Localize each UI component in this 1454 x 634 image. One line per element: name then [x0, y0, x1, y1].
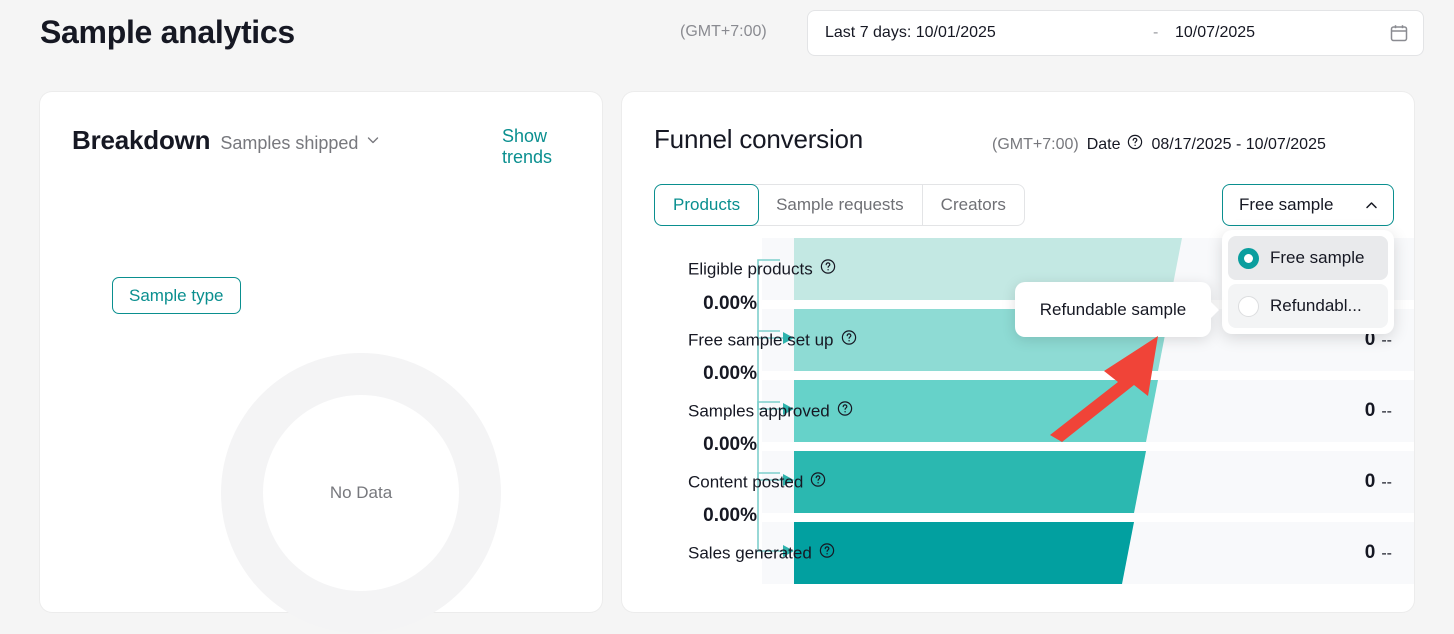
- header-timezone-label: (GMT+7:00): [680, 23, 767, 41]
- funnel-step-text: Content posted: [688, 472, 803, 492]
- sample-type-select[interactable]: Free sample: [1222, 184, 1394, 226]
- funnel-value-delta: --: [1381, 545, 1392, 563]
- tab-creators[interactable]: Creators: [923, 185, 1024, 225]
- sample-type-filter-button[interactable]: Sample type: [112, 277, 241, 314]
- funnel-bar-content-posted: [794, 451, 1146, 513]
- breakdown-header: Breakdown Samples shipped: [72, 125, 380, 156]
- funnel-value-delta: --: [1381, 474, 1392, 492]
- tab-products[interactable]: Products: [654, 184, 759, 226]
- chevron-up-icon: [1364, 198, 1379, 213]
- funnel-step-label: Samples approved: [688, 401, 853, 422]
- donut-center: No Data: [263, 395, 459, 591]
- dropdown-option-label: Free sample: [1270, 248, 1364, 268]
- funnel-meta: (GMT+7:00) Date 08/17/2025 - 10/07/2025: [992, 134, 1326, 155]
- funnel-step-label: Sales generated: [688, 543, 835, 564]
- date-range-end: 10/07/2025: [1175, 24, 1255, 42]
- breakdown-card: Breakdown Samples shipped Show trends Sa…: [40, 92, 602, 612]
- question-circle-icon[interactable]: [819, 543, 835, 564]
- funnel-bar-sales-generated: [794, 522, 1134, 584]
- dropdown-option-refundable-sample[interactable]: Refundabl...: [1228, 284, 1388, 328]
- funnel-value-number: 0: [1365, 542, 1376, 564]
- page-header: Sample analytics (GMT+7:00) Last 7 days:…: [0, 0, 1454, 68]
- date-range-separator: -: [1153, 24, 1158, 42]
- conversion-rate-1: 0.00%: [662, 293, 757, 315]
- breakdown-title: Breakdown: [72, 125, 210, 156]
- annotation-arrow-icon: [1040, 330, 1165, 450]
- funnel-value-number: 0: [1365, 471, 1376, 493]
- funnel-date-range: 08/17/2025 - 10/07/2025: [1151, 136, 1325, 154]
- funnel-step-value: 0 --: [1365, 471, 1392, 493]
- question-circle-icon[interactable]: [820, 259, 836, 280]
- question-circle-icon[interactable]: [841, 330, 857, 351]
- funnel-step-label: Eligible products: [688, 259, 836, 280]
- funnel-tabs: Products Sample requests Creators: [654, 184, 1025, 226]
- dropdown-option-free-sample[interactable]: Free sample: [1228, 236, 1388, 280]
- radio-selected-icon: [1238, 248, 1259, 269]
- tab-sample-requests[interactable]: Sample requests: [758, 185, 923, 225]
- breakdown-metric-label[interactable]: Samples shipped: [220, 133, 358, 154]
- funnel-date-label: Date: [1087, 136, 1121, 154]
- funnel-step-text: Sales generated: [688, 543, 812, 563]
- question-circle-icon[interactable]: [810, 472, 826, 493]
- chevron-down-icon[interactable]: [366, 133, 380, 147]
- refundable-sample-tooltip: Refundable sample: [1015, 282, 1211, 337]
- conversion-rate-3: 0.00%: [662, 434, 757, 456]
- funnel-step-text: Samples approved: [688, 401, 830, 421]
- funnel-conversion-card: Funnel conversion (GMT+7:00) Date 08/17/…: [622, 92, 1414, 612]
- funnel-step-label: Content posted: [688, 472, 826, 493]
- page-title: Sample analytics: [40, 14, 295, 51]
- question-circle-icon[interactable]: [1127, 134, 1143, 155]
- funnel-value-delta: --: [1381, 403, 1392, 421]
- date-range-picker[interactable]: Last 7 days: 10/01/2025 - 10/07/2025: [807, 10, 1424, 56]
- funnel-step-value: 0 --: [1365, 400, 1392, 422]
- radio-unselected-icon: [1238, 296, 1259, 317]
- no-data-label: No Data: [330, 483, 392, 503]
- funnel-value-number: 0: [1365, 400, 1376, 422]
- sample-type-dropdown-menu: Free sample Refundabl...: [1222, 230, 1394, 334]
- funnel-connector-arrowhead: [783, 332, 794, 557]
- calendar-icon[interactable]: [1389, 23, 1409, 43]
- sample-type-select-value: Free sample: [1239, 195, 1333, 215]
- funnel-step-text: Free sample set up: [688, 330, 834, 350]
- analytics-page: Sample analytics (GMT+7:00) Last 7 days:…: [0, 0, 1454, 634]
- funnel-step-label: Free sample set up: [688, 330, 857, 351]
- conversion-rate-2: 0.00%: [662, 363, 757, 385]
- funnel-step-value: 0 --: [1365, 542, 1392, 564]
- funnel-value-delta: --: [1381, 332, 1392, 350]
- funnel-step-text: Eligible products: [688, 259, 813, 279]
- conversion-rate-4: 0.00%: [662, 505, 757, 527]
- date-range-start: Last 7 days: 10/01/2025: [825, 24, 996, 42]
- dropdown-option-label: Refundabl...: [1270, 296, 1362, 316]
- show-trends-link[interactable]: Show trends: [502, 126, 602, 168]
- funnel-title: Funnel conversion: [654, 124, 863, 155]
- question-circle-icon[interactable]: [837, 401, 853, 422]
- funnel-timezone-label: (GMT+7:00): [992, 136, 1079, 154]
- breakdown-donut-chart: No Data: [221, 353, 501, 633]
